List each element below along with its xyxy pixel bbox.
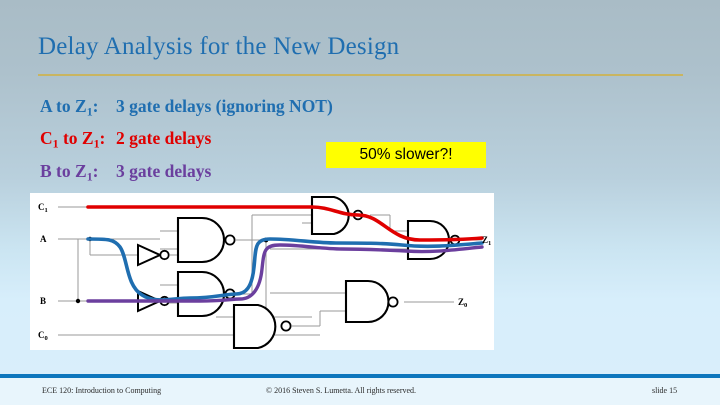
delay-row-b: B to Z1: 3 gate delays [40,161,333,184]
delay-analysis-list: A to Z1: 3 gate delays (ignoring NOT) C1… [40,96,333,193]
input-label-c0: C0 [38,330,48,342]
delay-row-c1-value: 2 gate delays [116,128,211,149]
delay-row-b-value: 3 gate delays [116,161,211,182]
inverter-gate-1 [138,245,169,265]
output-label-z1: Z1 [482,235,491,247]
input-label-a: A [40,234,47,244]
delay-row-a-label: A to Z1: [40,96,116,119]
slide: Delay Analysis for the New Design A to Z… [0,0,720,405]
circuit-diagram-panel: C1 A B C0 Z1 Z0 [30,193,494,350]
footer-course: ECE 120: Introduction to Computing [42,386,161,395]
input-label-c1: C1 [38,202,48,214]
output-label-z0: Z0 [458,297,467,309]
circuit-svg: C1 A B C0 Z1 Z0 [30,193,494,350]
delay-row-a: A to Z1: 3 gate delays (ignoring NOT) [40,96,333,119]
nand-gate-lower-mid [234,305,291,348]
callout-text: 50% slower?! [359,146,452,164]
page-title: Delay Analysis for the New Design [38,33,399,61]
callout-highlight: 50% slower?! [326,142,486,168]
delay-row-a-value: 3 gate delays (ignoring NOT) [116,96,333,117]
delay-row-c1: C1 to Z1: 2 gate delays [40,128,333,151]
nand-gate-upper-left [178,218,235,262]
delay-row-c1-label: C1 to Z1: [40,128,116,151]
input-label-b: B [40,296,46,306]
footer-slide-number: slide 15 [652,386,677,395]
title-underline-rule [38,74,683,76]
nand-gate-z0-output [346,281,398,322]
footer-copyright: © 2016 Steven S. Lumetta. All rights res… [266,386,416,395]
delay-row-b-label: B to Z1: [40,161,116,184]
